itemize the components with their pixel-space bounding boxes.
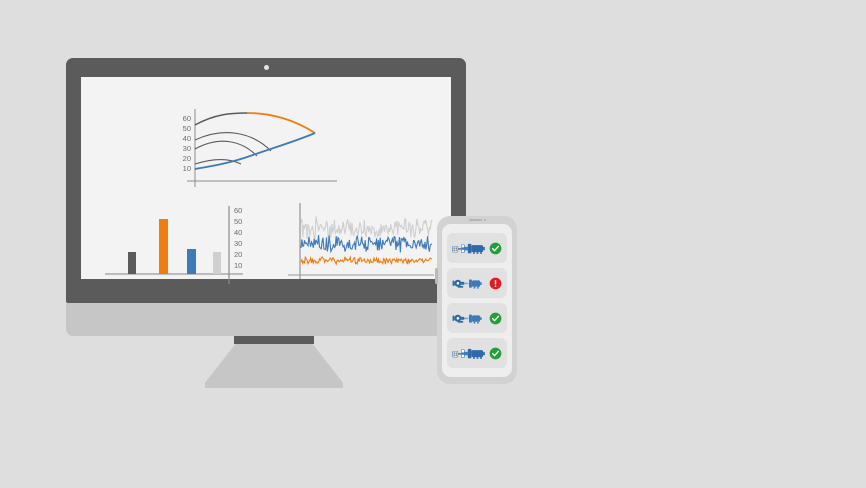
- phone-screen: [442, 224, 512, 377]
- monitor-screen: 60 50 40 30 20 10: [81, 77, 451, 279]
- check-circle-icon[interactable]: [489, 312, 502, 325]
- curve-mid-lower: [195, 141, 257, 156]
- bar-ytick-10: 10: [234, 261, 242, 270]
- ytick-60: 60: [183, 114, 191, 123]
- monitor-neck: [234, 336, 314, 344]
- phone-side-button[interactable]: [435, 268, 438, 284]
- pump-icon: [452, 308, 486, 328]
- bar-ytick-50: 50: [234, 217, 242, 226]
- desktop-monitor: 60 50 40 30 20 10: [66, 58, 466, 303]
- bar-1: [128, 252, 136, 274]
- bar-4: [213, 252, 221, 274]
- bar-ytick-30: 30: [234, 239, 242, 248]
- illustration-scene: 60 50 40 30 20 10: [0, 0, 866, 488]
- ytick-30: 30: [183, 144, 191, 153]
- curve-lower-blue: [195, 133, 315, 169]
- check-circle-icon[interactable]: [489, 242, 502, 255]
- webcam-dot-icon: [264, 65, 269, 70]
- equipment-list-item[interactable]: [447, 233, 507, 263]
- monitor-stand: [205, 344, 343, 388]
- ytick-40: 40: [183, 134, 191, 143]
- equipment-list-item[interactable]: [447, 303, 507, 333]
- motor-gauge-icon: [452, 238, 486, 258]
- phone-camera-icon: [484, 219, 486, 221]
- bar-chart: 60 50 40 30 20 10: [101, 202, 266, 287]
- mobile-device: [437, 216, 517, 384]
- alert-circle-icon[interactable]: [489, 277, 502, 290]
- pump-icon: [452, 273, 486, 293]
- bar-2: [159, 219, 168, 274]
- bar-ytick-60: 60: [234, 206, 242, 215]
- curve-upper-gray: [195, 113, 247, 125]
- equipment-list-item[interactable]: [447, 338, 507, 368]
- ytick-20: 20: [183, 154, 191, 163]
- phone-speaker-icon: [469, 219, 482, 221]
- envelope-curves-chart: 60 50 40 30 20 10: [169, 107, 344, 197]
- ytick-50: 50: [183, 124, 191, 133]
- signal-light-gray: [301, 217, 432, 239]
- signal-blue: [301, 235, 432, 252]
- monitor-chin: [66, 303, 466, 336]
- ytick-10: 10: [183, 164, 191, 173]
- time-series-chart: [286, 199, 436, 287]
- bar-ytick-20: 20: [234, 250, 242, 259]
- check-circle-icon[interactable]: [489, 347, 502, 360]
- equipment-list-item[interactable]: [447, 268, 507, 298]
- bar-ytick-40: 40: [234, 228, 242, 237]
- signal-orange: [301, 257, 432, 265]
- curve-upper-orange: [247, 113, 315, 133]
- motor-gauge-icon: [452, 343, 486, 363]
- bar-3: [187, 249, 196, 274]
